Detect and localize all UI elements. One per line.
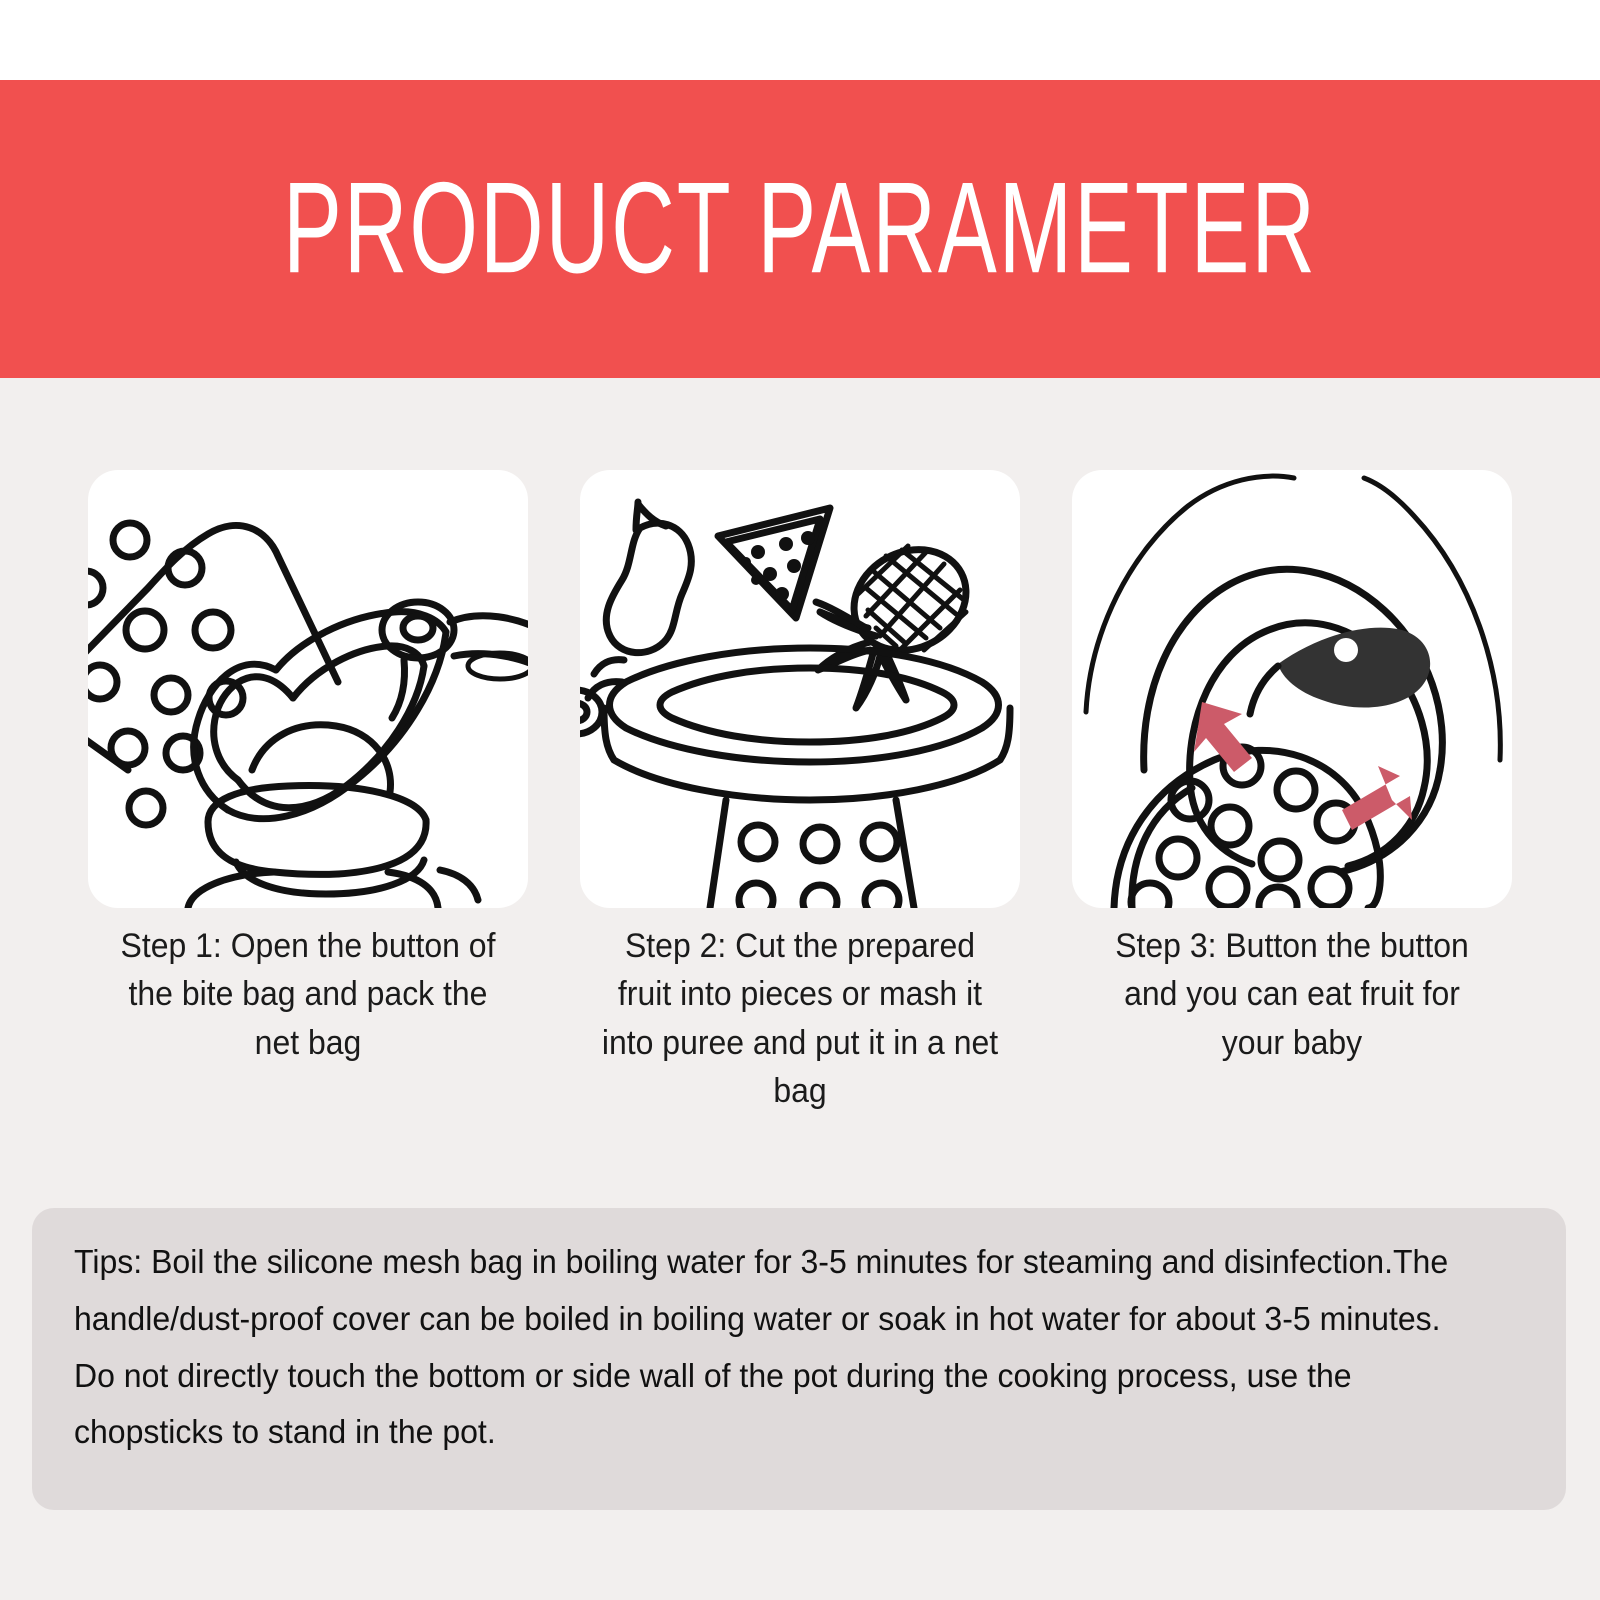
step-2-caption: Step 2: Cut the prepared fruit into piec… [598, 922, 1002, 1115]
tips-panel: Tips: Boil the silicone mesh bag in boil… [32, 1208, 1566, 1510]
step-3: Step 3: Button the button and you can ea… [1072, 470, 1512, 1115]
step-3-illustration-card [1072, 470, 1512, 908]
steps-row: Step 1: Open the button of the bite bag … [0, 470, 1600, 1115]
fruit-feeder-open-lid-illustration [88, 470, 528, 908]
pineapple-icon [816, 530, 984, 708]
step-2-illustration-card [580, 470, 1020, 908]
tips-text: Tips: Boil the silicone mesh bag in boil… [74, 1234, 1481, 1461]
product-parameter-page: PRODUCT PARAMETER [0, 0, 1600, 1600]
button-mesh-bag-illustration [1072, 470, 1512, 908]
page-title: PRODUCT PARAMETER [283, 164, 1317, 294]
pear-icon [606, 502, 691, 653]
step-3-caption: Step 3: Button the button and you can ea… [1090, 922, 1494, 1067]
top-white-strip [0, 0, 1600, 80]
header-banner: PRODUCT PARAMETER [0, 80, 1600, 378]
step-1: Step 1: Open the button of the bite bag … [88, 470, 528, 1115]
step-1-illustration-card [88, 470, 528, 908]
step-1-caption: Step 1: Open the button of the bite bag … [106, 922, 510, 1067]
dark-clip-icon [1278, 628, 1430, 708]
step-2: Step 2: Cut the prepared fruit into piec… [580, 470, 1020, 1115]
fruits-into-feeder-illustration [580, 470, 1020, 908]
